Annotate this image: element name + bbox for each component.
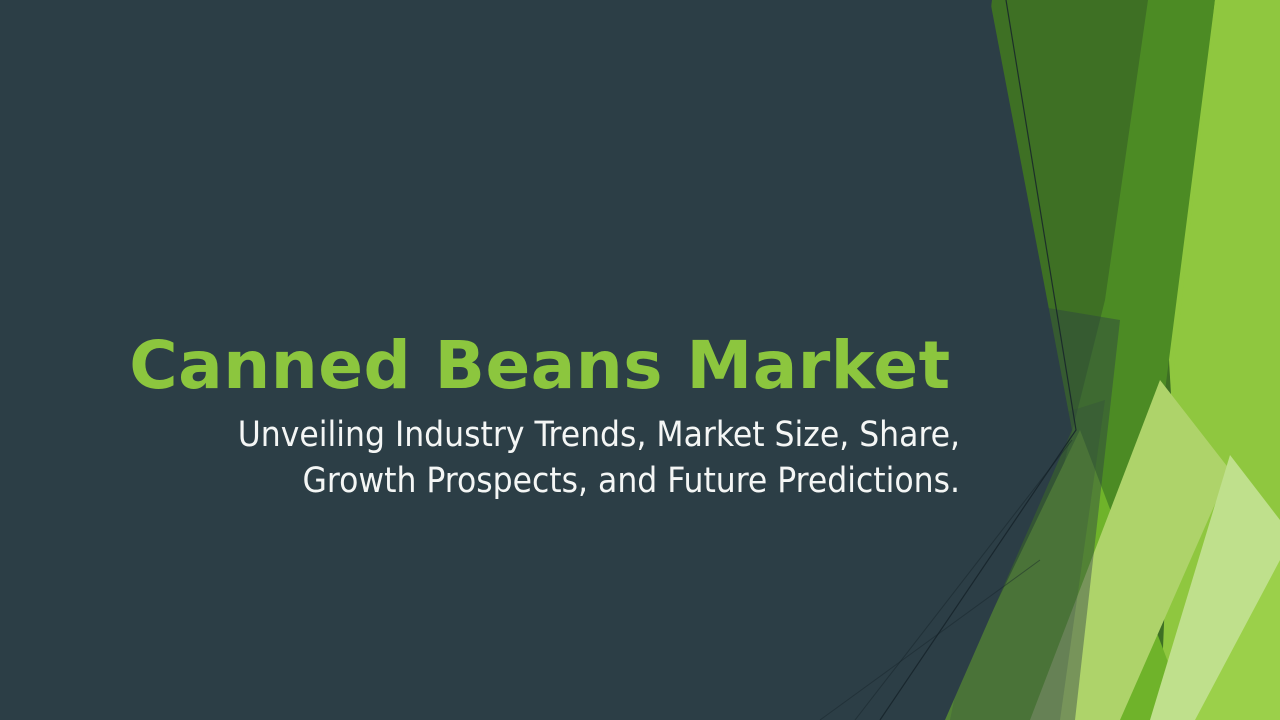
title-text-block: Canned Beans Market Unveiling Industry T… [120,330,970,504]
subtitle-line-2: Growth Prospects, and Future Predictions… [303,461,960,501]
subtitle-line-1: Unveiling Industry Trends, Market Size, … [238,415,960,455]
slide-subtitle: Unveiling Industry Trends, Market Size, … [120,413,970,504]
page-title: Canned Beans Market [120,330,970,401]
presentation-slide: Canned Beans Market Unveiling Industry T… [0,0,1280,720]
